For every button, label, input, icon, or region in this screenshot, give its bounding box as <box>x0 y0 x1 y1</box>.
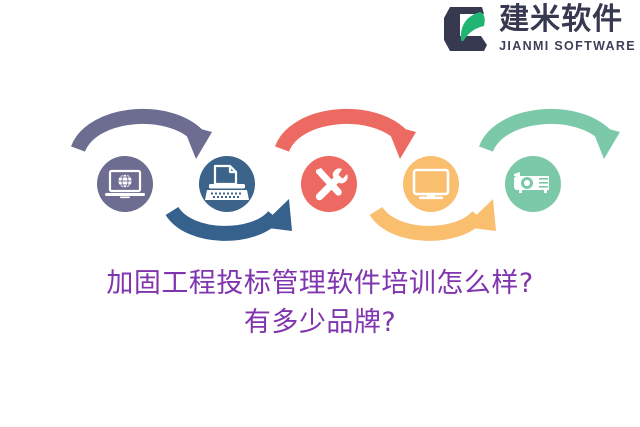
process-step-2[interactable] <box>199 156 255 212</box>
page-title: 加固工程投标管理软件培训怎么样? 有多少品牌? <box>0 264 640 342</box>
process-step-4[interactable] <box>403 156 459 212</box>
page-title-line-2: 有多少品牌? <box>0 303 640 342</box>
page-title-line-1: 加固工程投标管理软件培训怎么样? <box>0 264 640 303</box>
brand-text: 建米软件 JIANMI SOFTWARE <box>499 5 636 53</box>
arrow-step-1-to-2 <box>78 116 212 159</box>
process-flow-diagram <box>0 88 640 260</box>
process-step-1[interactable] <box>97 156 153 212</box>
brand-name-en: JIANMI SOFTWARE <box>499 40 636 53</box>
brand-name-cn: 建米软件 <box>499 5 636 35</box>
arrow-step-5-to-6 <box>486 116 620 159</box>
jianmi-leaf-logo-icon <box>440 4 492 54</box>
step-4-circle <box>403 156 459 212</box>
laptop-globe-icon <box>105 171 145 198</box>
process-step-3[interactable] <box>301 156 357 212</box>
brand-logo: 建米软件 JIANMI SOFTWARE <box>440 4 636 54</box>
arrow-step-3-to-4 <box>282 116 416 159</box>
process-step-5[interactable] <box>505 156 561 212</box>
